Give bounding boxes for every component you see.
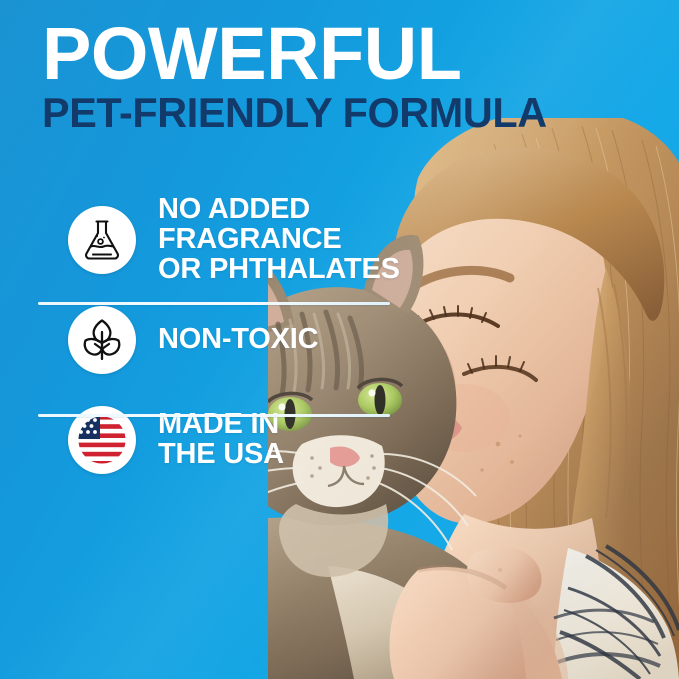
feature-label-nontoxic: NON-TOXIC <box>158 325 318 355</box>
feature-divider-1 <box>38 302 390 305</box>
feature-divider-2 <box>38 414 390 417</box>
flask-icon <box>77 215 127 265</box>
feature-list: NO ADDED FRAGRANCE OR PHTHALATES <box>0 190 679 490</box>
feature-line: OR PHTHALATES <box>158 255 400 285</box>
feature-line: NO ADDED <box>158 195 400 225</box>
promo-image: POWERFUL PET-FRIENDLY FORMULA <box>0 0 679 679</box>
feature-line: NON-TOXIC <box>158 325 318 355</box>
feature-row-nontoxic: NON-TOXIC <box>0 290 679 390</box>
headline-primary: POWERFUL <box>42 20 642 88</box>
usa-flag-icon <box>73 411 131 469</box>
sprout-icon <box>77 315 127 365</box>
feature-line: FRAGRANCE <box>158 225 400 255</box>
feature-row-made-in-usa: MADE IN THE USA <box>0 390 679 490</box>
feature-row-fragrance: NO ADDED FRAGRANCE OR PHTHALATES <box>0 190 679 290</box>
feature-label-fragrance: NO ADDED FRAGRANCE OR PHTHALATES <box>158 195 400 285</box>
feature-line: THE USA <box>158 440 284 470</box>
headline-secondary: PET-FRIENDLY FORMULA <box>42 92 633 134</box>
feature-label-made-in-usa: MADE IN THE USA <box>158 410 284 470</box>
flask-icon-badge <box>68 206 136 274</box>
headline-block: POWERFUL PET-FRIENDLY FORMULA <box>42 20 642 134</box>
sprout-icon-badge <box>68 306 136 374</box>
